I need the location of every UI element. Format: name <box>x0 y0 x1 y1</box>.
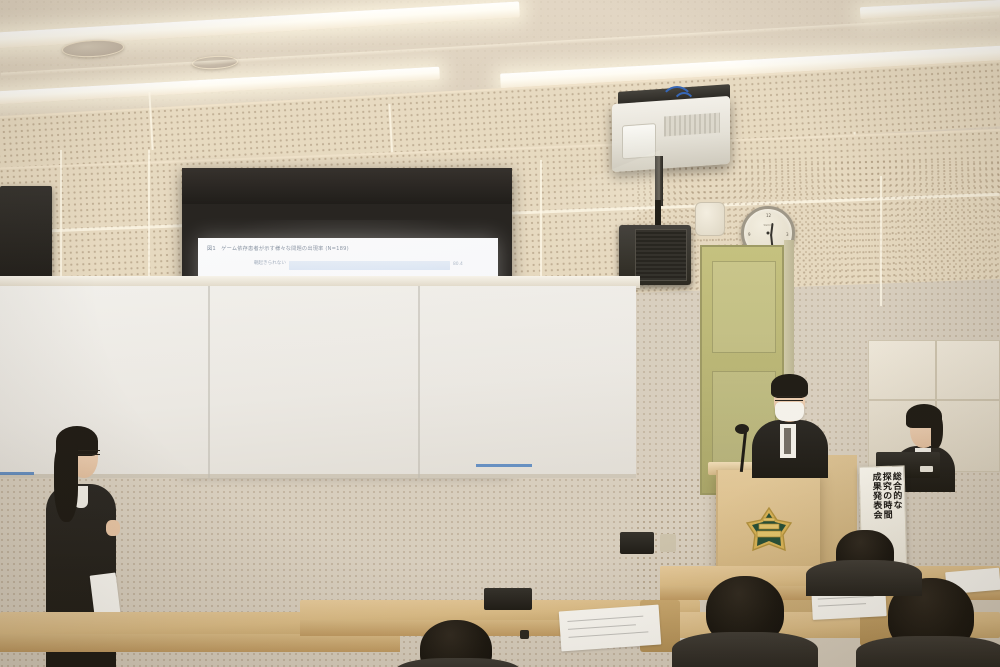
clock-center-pin <box>767 232 770 235</box>
bar-value-0: 80.4 <box>453 262 463 267</box>
handout-line-3 <box>569 631 649 638</box>
laptop-sticker-right <box>920 466 933 472</box>
speaker-grille <box>635 229 687 281</box>
wall-dome-light <box>695 202 725 236</box>
whiteboard-blue-line-right <box>476 464 532 467</box>
left-presenter-hair-long <box>54 444 78 522</box>
bar-0 <box>289 261 450 270</box>
sign-line-3: 成果発表会 <box>870 472 880 520</box>
screen-top-bar <box>182 168 512 204</box>
projector-lens <box>622 123 656 159</box>
sign-line-2: 探究の時間 <box>880 472 890 520</box>
bar-label-0: 朝起きられない <box>254 260 286 266</box>
whiteboard-seam-1 <box>208 286 210 478</box>
door-panel-upper <box>712 261 776 353</box>
cabinet-divider-h <box>869 399 1000 401</box>
mid-seam-c <box>540 160 542 290</box>
audience-shoulders-3 <box>856 636 1000 667</box>
podium-presenter-tie <box>784 428 791 454</box>
handout-line-1 <box>567 616 643 622</box>
whiteboard-blue-line-left <box>0 472 34 475</box>
left-presenter-glasses <box>78 450 100 455</box>
chart-row-0: 朝起きられない 80.4 <box>198 258 498 274</box>
school-emblem <box>743 506 795 558</box>
mid-seam-b <box>148 150 150 290</box>
whiteboard-seam-2 <box>418 286 420 478</box>
projector-cable-2 <box>672 92 696 122</box>
podium-presenter-glasses <box>775 396 803 401</box>
sign-line-1: 総合的な <box>891 472 901 510</box>
lecture-hall-scene: SEIKO 12 3 6 9 図1 ゲーム依存患者が示す様々な問題の出現率 (N… <box>0 0 1000 667</box>
audience-shoulders-4 <box>806 560 922 596</box>
clock-number-3: 3 <box>786 232 789 237</box>
speaker-mount-arm <box>655 200 661 228</box>
handout-r-line-1 <box>818 596 874 600</box>
wall-outlet-small <box>660 534 676 552</box>
right-presenter-hair-side <box>931 414 943 448</box>
bar-track-0: 80.4 <box>289 261 489 270</box>
handout-center <box>559 605 662 652</box>
microphone-head-icon <box>735 424 749 434</box>
left-presenter-hand <box>106 520 120 536</box>
clock-number-9: 9 <box>748 232 751 237</box>
handout-line-2 <box>568 624 636 630</box>
school-emblem-svg <box>743 506 795 558</box>
podium-presenter-hair <box>771 374 808 398</box>
left-presenter-notes <box>90 573 121 616</box>
projector-support-pole <box>655 156 663 206</box>
podium-presenter-mask <box>775 402 804 421</box>
handout-r-line-2 <box>818 603 866 607</box>
desk-speaker-box <box>484 588 532 610</box>
wall-mounted-monitor <box>0 186 52 278</box>
mid-seam-a <box>60 150 62 290</box>
desk-remote <box>520 630 529 639</box>
slide-title: 図1 ゲーム依存患者が示す様々な問題の出現率 (N=189) <box>207 245 349 252</box>
audience-shoulders-2 <box>672 632 818 667</box>
presenter-at-podium <box>752 372 828 476</box>
desk-front-left <box>0 634 400 652</box>
clock-number-12: 12 <box>766 213 771 218</box>
wall-av-outlet-panel <box>620 532 654 554</box>
